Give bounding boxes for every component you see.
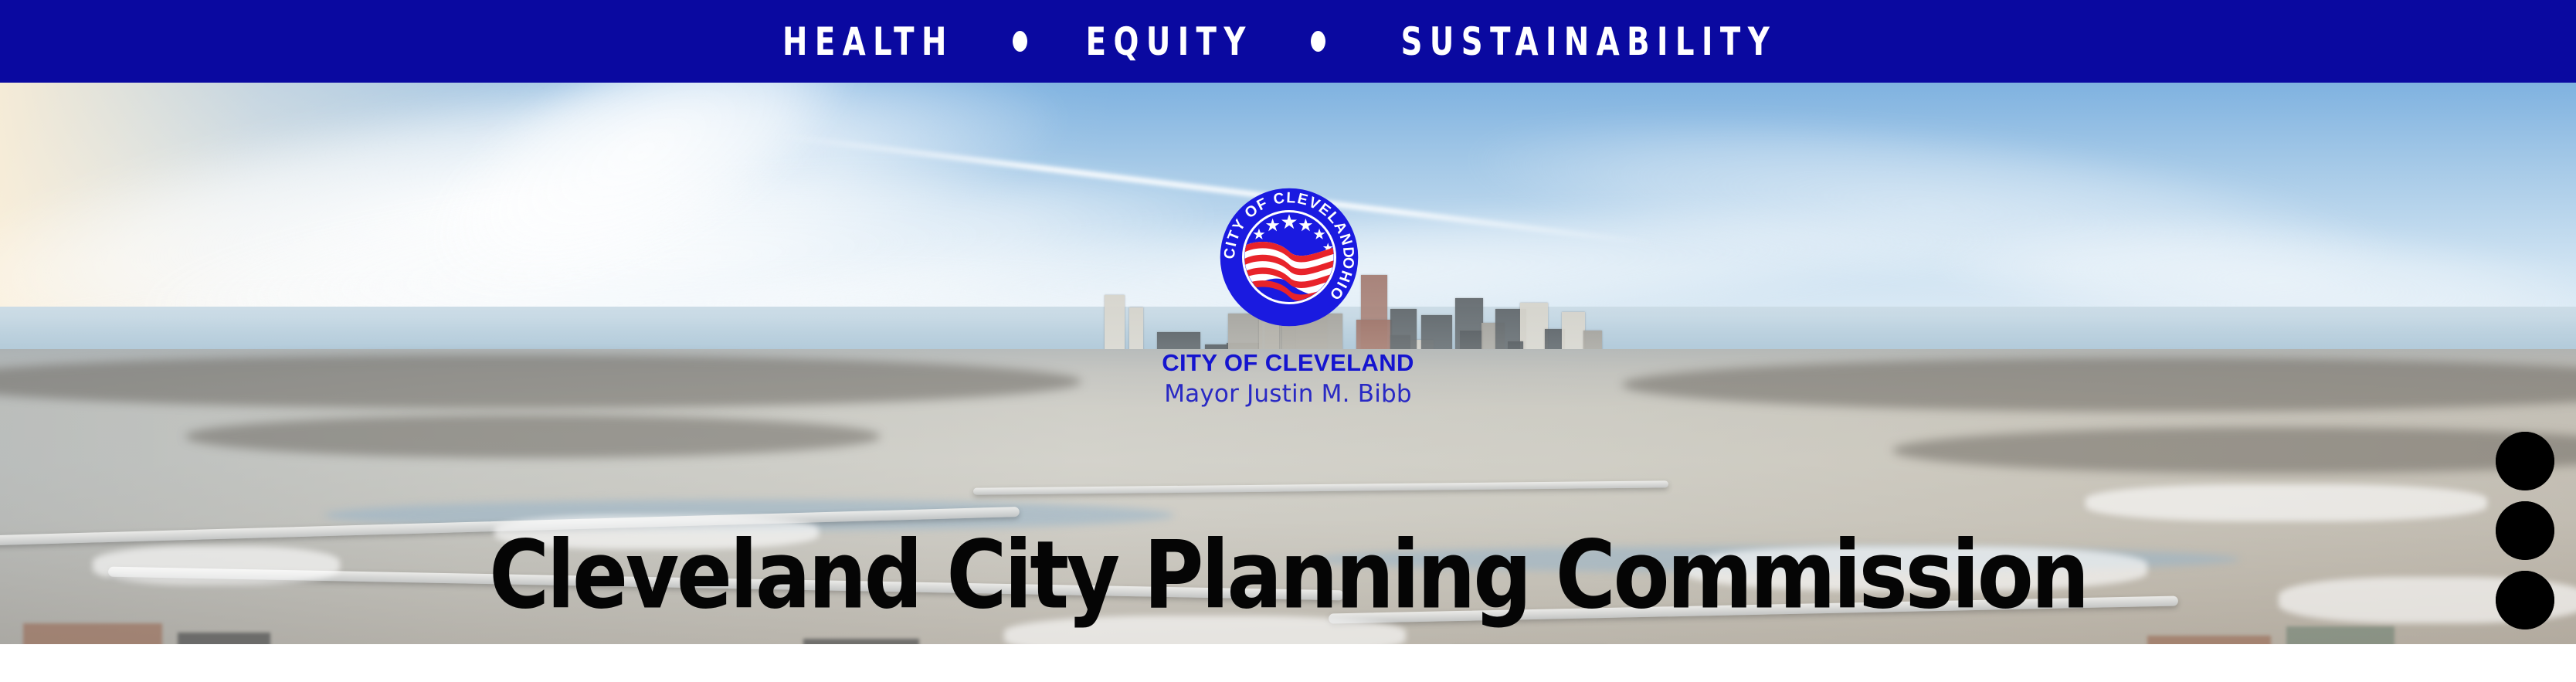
building-roof xyxy=(2286,626,2394,644)
slogan-banner-inner: HEALTH EQUITY SUSTAINABILITY xyxy=(769,22,1807,61)
youtube-link[interactable] xyxy=(2496,432,2554,490)
slogan-banner: HEALTH EQUITY SUSTAINABILITY xyxy=(0,0,2576,83)
building-roof xyxy=(23,623,162,644)
instagram-link[interactable] xyxy=(2496,501,2554,560)
page-white-space xyxy=(0,644,2576,682)
building-roof xyxy=(803,639,919,644)
page-root: HEALTH EQUITY SUSTAINABILITY xyxy=(0,0,2576,682)
building-roof xyxy=(2147,636,2271,644)
youtube-icon xyxy=(2496,432,2554,490)
page-title: Cleveland City Planning Commission xyxy=(64,529,2511,623)
slogan-word-sustainability: SUSTAINABILITY xyxy=(1401,22,1777,61)
mayor-name: Mayor Justin M. Bibb xyxy=(0,380,2576,408)
slogan-word-equity: EQUITY xyxy=(1085,22,1252,61)
slogan-separator-dot-1 xyxy=(1013,31,1027,52)
snow-patch xyxy=(2086,484,2487,521)
slogan-word-health: HEALTH xyxy=(782,22,954,61)
instagram-icon xyxy=(2496,501,2554,560)
social-links xyxy=(2496,432,2557,640)
org-name: CITY OF CLEVELAND xyxy=(0,349,2576,377)
slogan-separator-dot-2 xyxy=(1311,31,1325,52)
treeline xyxy=(185,415,881,458)
building-roof xyxy=(178,633,270,644)
city-of-cleveland-seal-icon: CITY OF CLEVELAND OHIO xyxy=(1217,185,1361,329)
facebook-link[interactable] xyxy=(2496,571,2554,629)
facebook-icon xyxy=(2496,571,2554,629)
hero-banner-image: CITY OF CLEVELAND OHIO CITY OF CLEVELAND… xyxy=(0,83,2576,644)
